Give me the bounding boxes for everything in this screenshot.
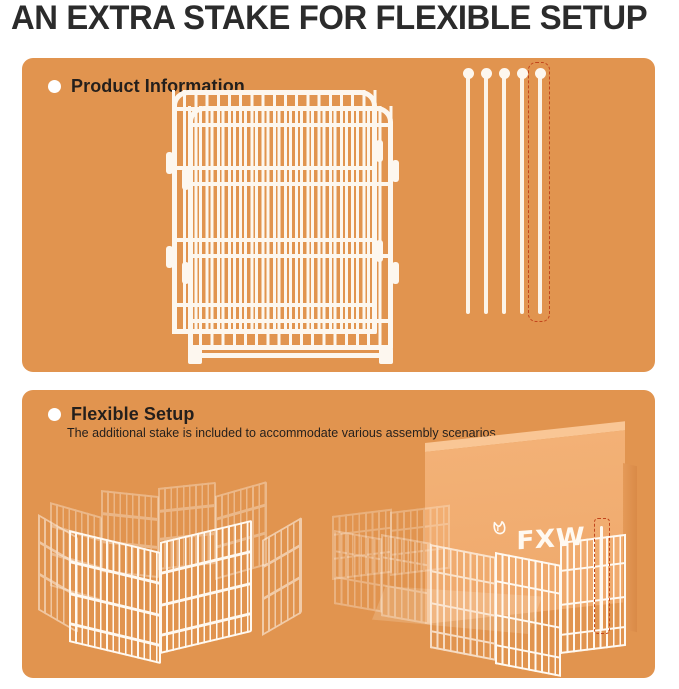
- stake-rod: [484, 74, 488, 314]
- panel-subtitle-flexible: The additional stake is included to acco…: [67, 426, 499, 440]
- pen-panel-far-top: [332, 509, 392, 580]
- panel-foot-leg: [379, 348, 393, 364]
- stake-rod: [520, 74, 524, 314]
- bullet-dot-icon: [48, 408, 61, 421]
- extra-stake-rod: [600, 526, 603, 630]
- wire-panel-frame: [188, 106, 393, 350]
- stake-head: [463, 68, 474, 79]
- pen-panel-near: [495, 552, 561, 677]
- panel-foot: [190, 353, 390, 358]
- stake-head: [499, 68, 510, 79]
- pen-panel-near-right: [560, 534, 626, 654]
- extra-stake-highlight-outline: [528, 62, 550, 322]
- stake-head: [517, 68, 528, 79]
- connector-tab-icon: [392, 160, 399, 182]
- octagon-playpen-figure: [34, 474, 319, 659]
- wall-playpen-figure: FXW: [342, 446, 655, 678]
- page-title: AN EXTRA STAKE FOR FLEXIBLE SETUP: [11, 0, 648, 37]
- fxw-dog-head-icon: [492, 520, 512, 537]
- connector-tab-icon: [166, 152, 173, 174]
- playpen-panel-front-left: [69, 530, 161, 664]
- playpen-panel-side: [262, 517, 302, 636]
- wire-panel-front: [188, 106, 393, 350]
- panel-product-information: Product Information: [22, 58, 655, 372]
- stake-rod: [466, 74, 470, 314]
- panel-title-flexible: Flexible Setup: [71, 404, 194, 424]
- connector-tab-icon: [392, 262, 399, 284]
- connector-tab-icon: [166, 246, 173, 268]
- panel-foot-leg: [188, 348, 202, 364]
- connector-tab-icon: [182, 168, 189, 190]
- ground-stakes-group: [442, 58, 592, 372]
- stake-head: [481, 68, 492, 79]
- product-figure-stage: [22, 58, 655, 372]
- stake-rod: [502, 74, 506, 314]
- playpen-panel-front-right: [160, 520, 252, 654]
- panel-flexible-setup: Flexible Setup The additional stake is i…: [22, 390, 655, 678]
- connector-tab-icon: [182, 262, 189, 284]
- pen-panel-mid: [430, 544, 496, 661]
- panel-flexible-heading: Flexible Setup: [48, 404, 194, 424]
